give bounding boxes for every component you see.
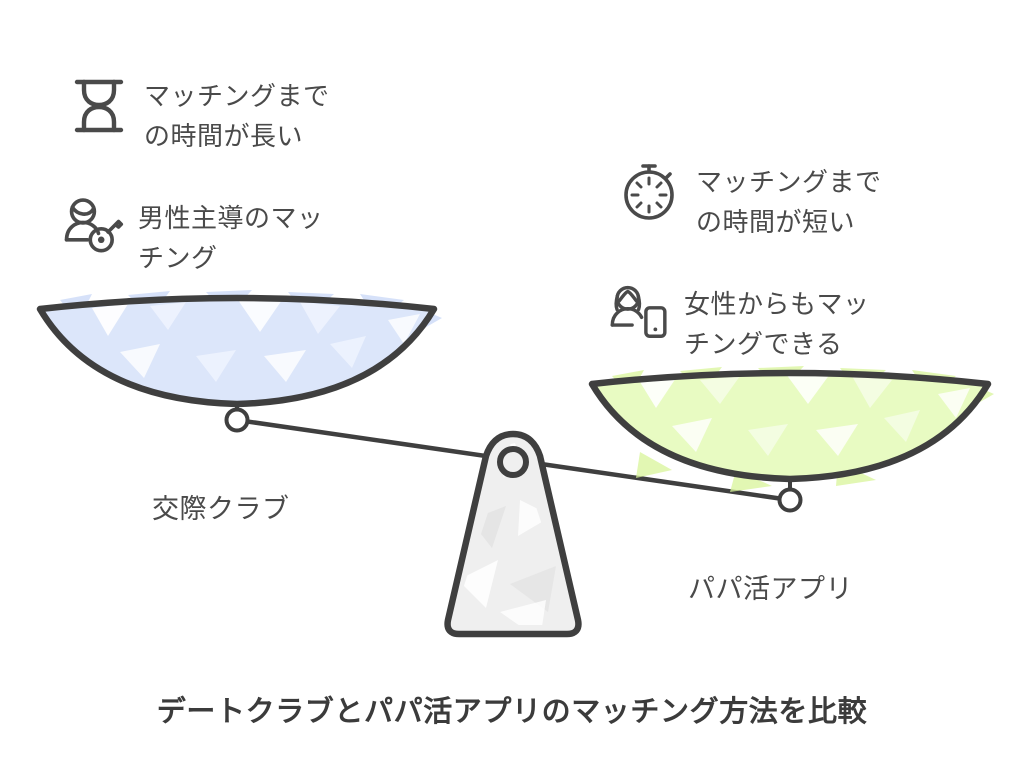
man-with-key-icon bbox=[62, 196, 124, 258]
feature-right-women-can: 女性からもマッ チングできる bbox=[608, 282, 870, 364]
figure-caption: デートクラブとパパ活アプリのマッチング方法を比較 bbox=[0, 688, 1024, 730]
left-hanger-ring bbox=[227, 410, 248, 431]
feature-line-1: マッチングまで bbox=[696, 162, 882, 202]
feature-right-women-can-text: 女性からもマッ チングできる bbox=[684, 282, 870, 364]
feature-line-2: チング bbox=[138, 238, 324, 278]
right-pan bbox=[592, 366, 994, 492]
feature-line-2: の時間が短い bbox=[696, 202, 882, 242]
hourglass-icon bbox=[68, 74, 130, 136]
feature-line-1: 男性主導のマッ bbox=[138, 198, 324, 238]
feature-line-2: の時間が長い bbox=[144, 116, 330, 156]
feature-left-male-led-text: 男性主導のマッ チング bbox=[138, 196, 324, 278]
feature-right-wait-short-text: マッチングまで の時間が短い bbox=[696, 160, 882, 242]
feature-left-wait-long: マッチングまで の時間が長い bbox=[68, 74, 330, 156]
feature-line-1: マッチングまで bbox=[144, 76, 330, 116]
feature-left-male-led: 男性主導のマッ チング bbox=[62, 196, 324, 278]
left-pan bbox=[40, 290, 442, 404]
feature-line-2: チングできる bbox=[684, 324, 870, 364]
right-hanger-ring bbox=[780, 490, 801, 511]
illustration-canvas: マッチングまで の時間が長い 男性主導のマッ チング bbox=[0, 0, 1024, 780]
stopwatch-icon bbox=[620, 160, 682, 222]
fulcrum-pivot-circle bbox=[500, 449, 526, 475]
woman-with-phone-icon bbox=[608, 282, 670, 344]
feature-right-wait-short: マッチングまで の時間が短い bbox=[620, 160, 882, 242]
feature-line-1: 女性からもマッ bbox=[684, 284, 870, 324]
left-pan-label: 交際クラブ bbox=[152, 492, 290, 526]
feature-left-wait-long-text: マッチングまで の時間が長い bbox=[144, 74, 330, 156]
right-pan-label: パパ活アプリ bbox=[688, 572, 853, 606]
